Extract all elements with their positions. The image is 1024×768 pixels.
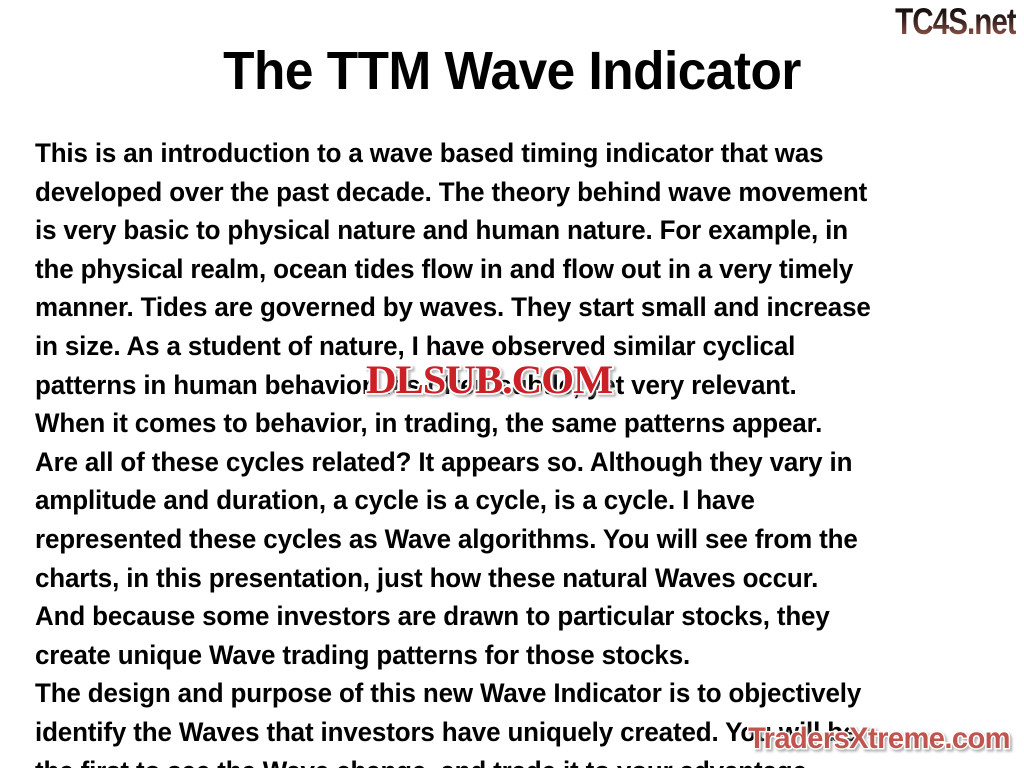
body-line: The design and purpose of this new Wave …: [35, 674, 976, 713]
body-line: create unique Wave trading patterns for …: [35, 636, 976, 675]
body-line: Are all of these cycles related? It appe…: [35, 443, 976, 482]
body-line: is very basic to physical nature and hum…: [35, 211, 976, 250]
body-line: This is an introduction to a wave based …: [35, 134, 976, 173]
body-text-block: This is an introduction to a wave based …: [35, 134, 995, 768]
body-line: charts, in this presentation, just how t…: [35, 559, 976, 598]
page-title: The TTM Wave Indicator: [26, 40, 999, 102]
body-line: And because some investors are drawn to …: [35, 597, 976, 636]
tradersxtreme-brand-logo: TradersXtreme.com: [748, 722, 1010, 756]
dlsub-watermark: DLSUB.COM: [366, 360, 612, 400]
presentation-slide: TC4S.net The TTM Wave Indicator This is …: [0, 0, 1024, 768]
body-line: developed over the past decade. The theo…: [35, 173, 976, 212]
tc4s-brand-logo: TC4S.net: [895, 2, 1016, 42]
body-line: When it comes to behavior, in trading, t…: [35, 404, 976, 443]
body-line: represented these cycles as Wave algorit…: [35, 520, 976, 559]
body-line: amplitude and duration, a cycle is a cyc…: [35, 481, 976, 520]
body-line: the physical realm, ocean tides flow in …: [35, 250, 976, 289]
body-line: manner. Tides are governed by waves. The…: [35, 288, 976, 327]
